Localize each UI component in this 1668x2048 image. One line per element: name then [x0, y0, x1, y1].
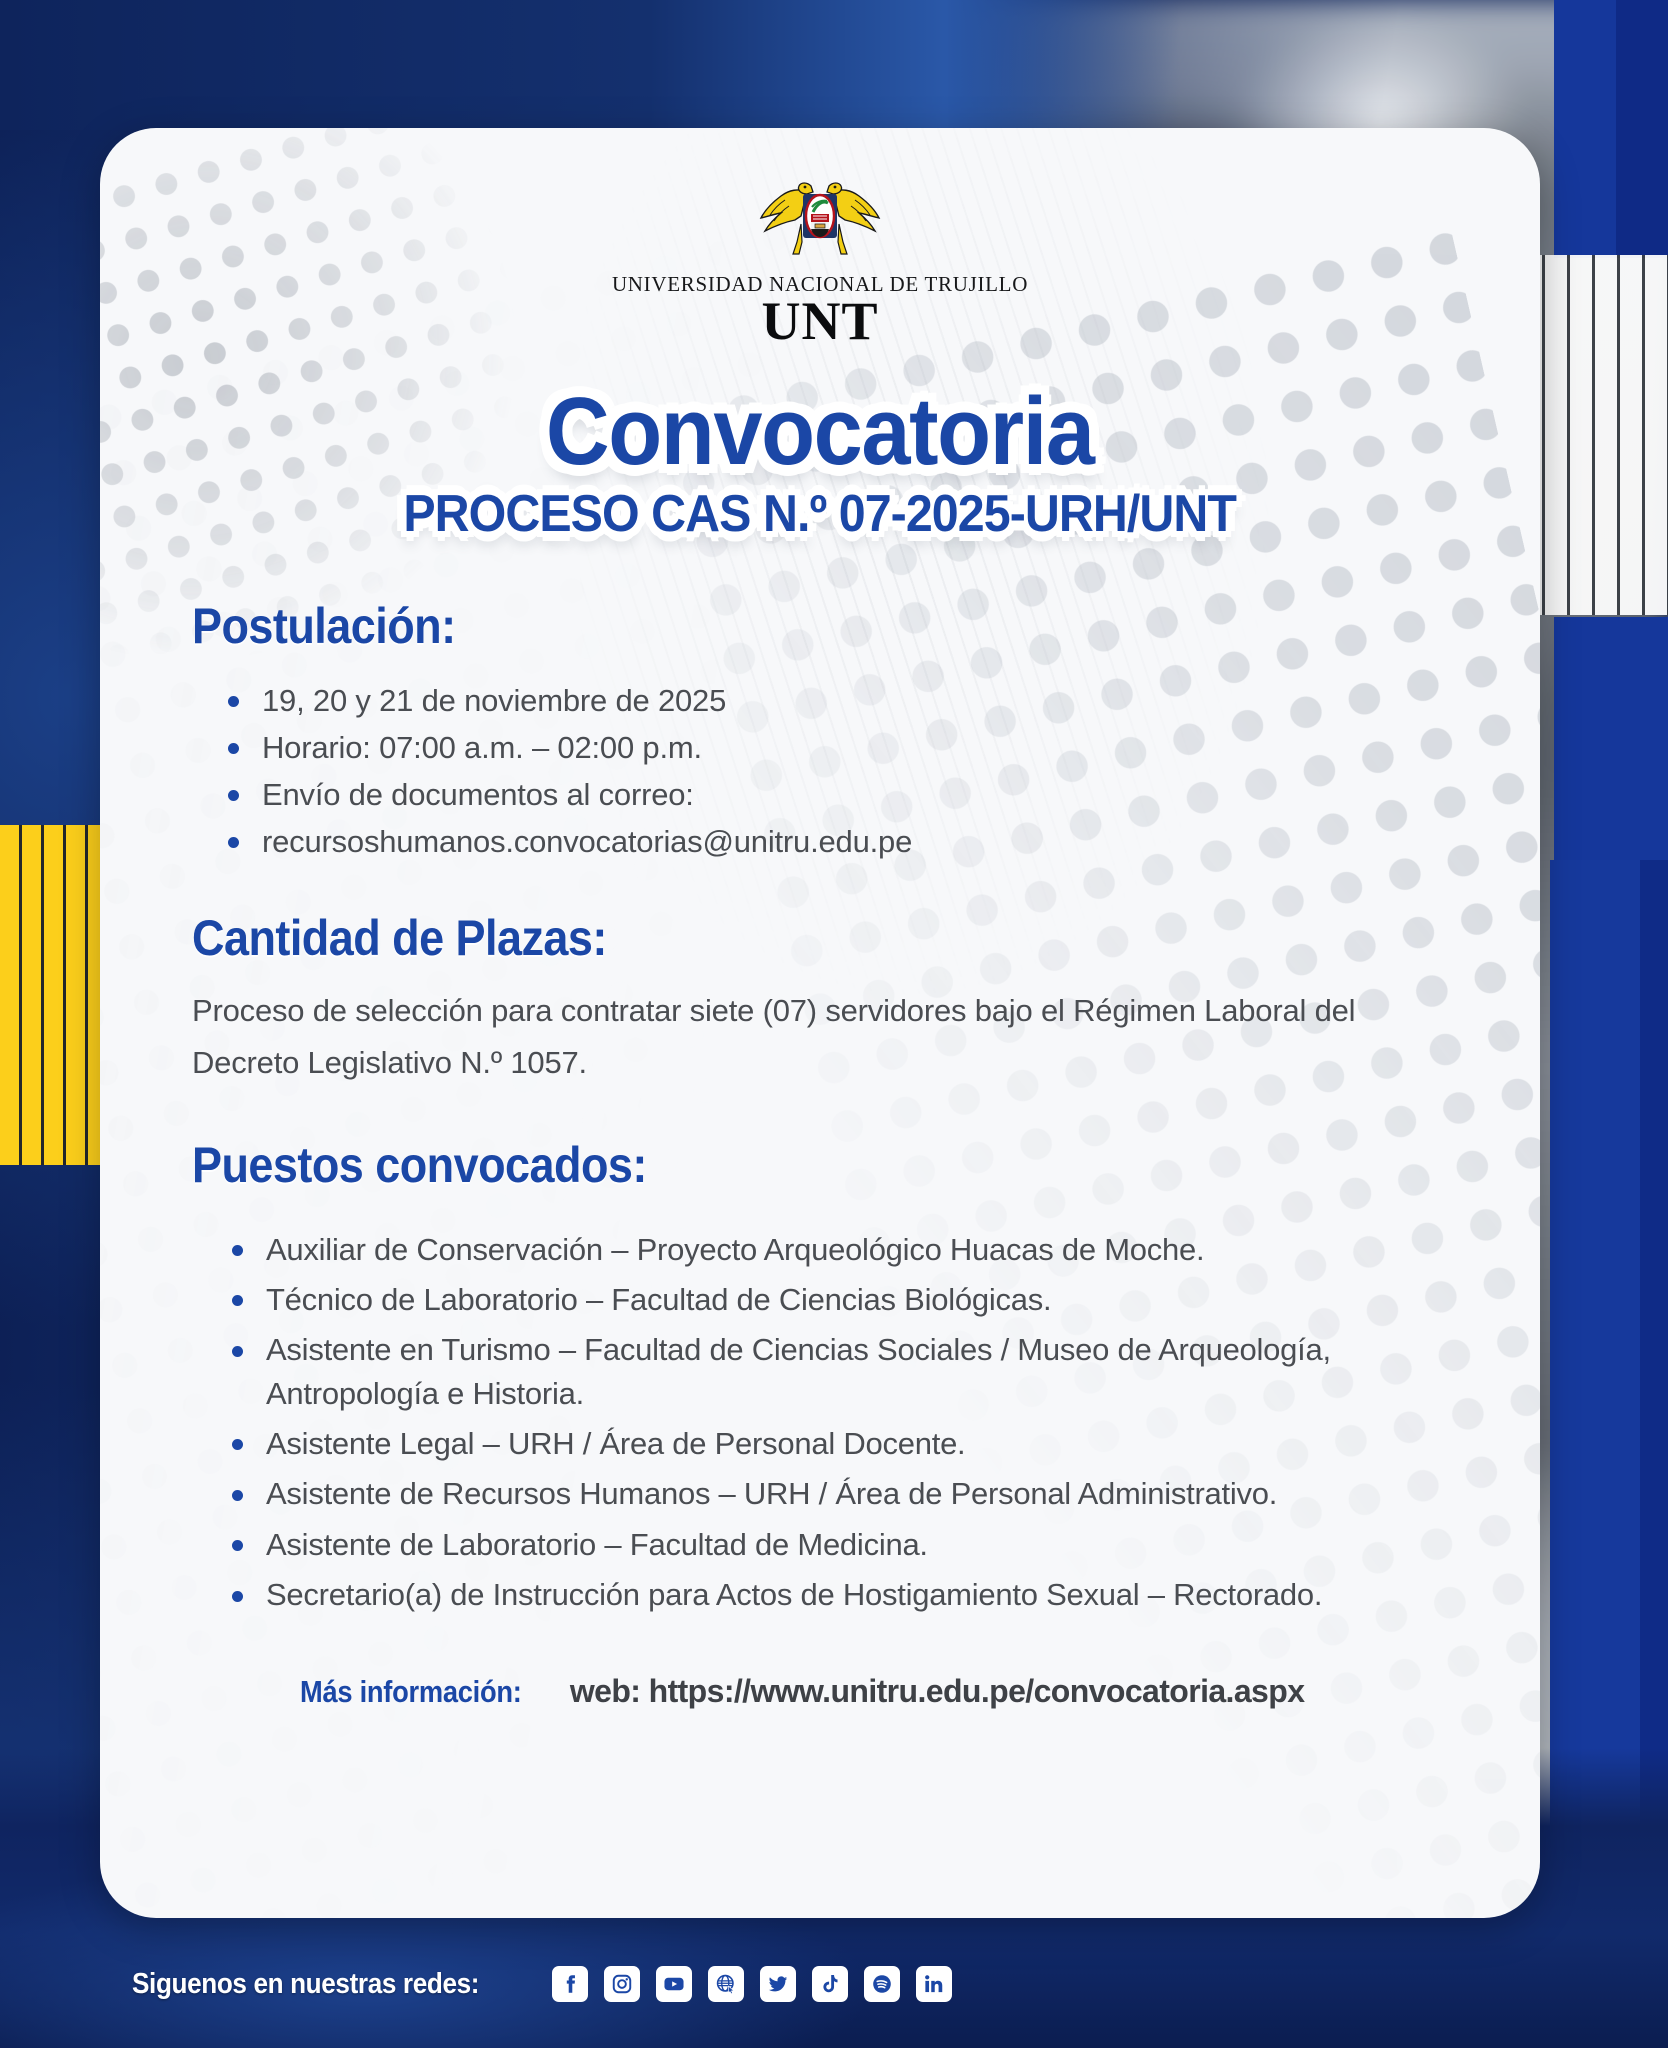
decor-blue-bar-right-edge [1640, 860, 1668, 1900]
more-info-label: Más información: [300, 1674, 522, 1710]
list-item: Auxiliar de Conservación – Proyecto Arqu… [232, 1228, 1422, 1271]
page-subtitle: PROCESO CAS N.º 07-2025-URH/UNT [404, 486, 1237, 543]
social-footer-bar: Siguenos en nuestras redes: [0, 1920, 1668, 2048]
list-item: Asistente en Turismo – Facultad de Cienc… [232, 1328, 1422, 1415]
list-item: Asistente Legal – URH / Área de Personal… [232, 1422, 1422, 1465]
section-cantidad-plazas: Cantidad de Plazas: Proceso de selección… [192, 909, 1462, 1089]
poster-content: Postulación: 19, 20 y 21 de noviembre de… [100, 597, 1540, 1710]
list-item: Envío de documentos al correo: [228, 771, 1462, 818]
top-blue-band [0, 0, 1180, 130]
paragraph-cantidad-plazas: Proceso de selección para contratar siet… [192, 985, 1362, 1089]
list-item: Secretario(a) de Instrucción para Actos … [232, 1573, 1422, 1616]
heading-cantidad-plazas: Cantidad de Plazas: [192, 909, 1335, 967]
spotify-icon[interactable] [864, 1966, 900, 2002]
university-logo: UNIVERSIDAD NACIONAL DE TRUJILLO UNT [100, 128, 1540, 348]
more-info-row: Más información: web: https://www.unitru… [192, 1673, 1462, 1710]
university-acronym: UNT [100, 295, 1540, 348]
heading-postulacion: Postulación: [192, 597, 1335, 655]
follow-us-label: Siguenos en nuestras redes: [132, 1968, 479, 2001]
decor-blue-slab-top-right-edge [1616, 0, 1668, 258]
twitter-icon[interactable] [760, 1966, 796, 2002]
more-info-url[interactable]: web: https://www.unitru.edu.pe/convocato… [570, 1673, 1305, 1710]
linkedin-icon[interactable] [916, 1966, 952, 2002]
decor-white-stripes-right [1520, 255, 1668, 615]
tiktok-icon[interactable] [812, 1966, 848, 2002]
list-item: Técnico de Laboratorio – Facultad de Cie… [232, 1278, 1422, 1321]
list-postulacion: 19, 20 y 21 de noviembre de 2025 Horario… [192, 677, 1462, 865]
decor-yellow-stripes-left [0, 825, 106, 1165]
list-item: 19, 20 y 21 de noviembre de 2025 [228, 677, 1462, 724]
facebook-icon[interactable] [552, 1966, 588, 2002]
list-puestos: Auxiliar de Conservación – Proyecto Arqu… [192, 1228, 1462, 1617]
unt-crest-icon [755, 176, 885, 268]
section-postulacion: Postulación: 19, 20 y 21 de noviembre de… [192, 597, 1462, 865]
list-item: Asistente de Recursos Humanos – URH / Ár… [232, 1472, 1422, 1515]
page-title: Convocatoria [546, 382, 1094, 482]
list-item: Horario: 07:00 a.m. – 02:00 p.m. [228, 724, 1462, 771]
poster-title-block: Convocatoria PROCESO CAS N.º 07-2025-URH… [100, 382, 1540, 543]
section-puestos-convocados: Puestos convocados: Auxiliar de Conserva… [192, 1136, 1462, 1617]
heading-puestos-convocados: Puestos convocados: [192, 1136, 1335, 1194]
globe-web-icon[interactable] [708, 1966, 744, 2002]
list-item-email[interactable]: recursoshumanos.convocatorias@unitru.edu… [228, 818, 1462, 865]
instagram-icon[interactable] [604, 1966, 640, 2002]
list-item: Asistente de Laboratorio – Facultad de M… [232, 1523, 1422, 1566]
poster-card: UNIVERSIDAD NACIONAL DE TRUJILLO UNT Con… [100, 128, 1540, 1918]
youtube-icon[interactable] [656, 1966, 692, 2002]
